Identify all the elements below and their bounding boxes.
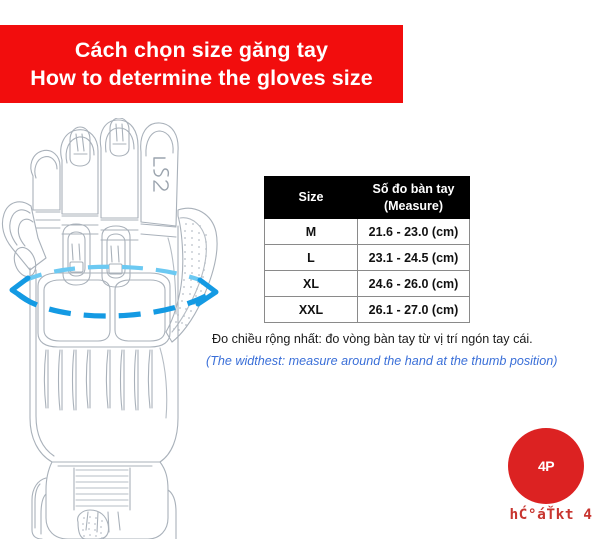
cell-measure: 23.1 - 24.5 (cm) [358, 245, 470, 271]
glove-size-table: Size Số đo bàn tay (Measure) M 21.6 - 23… [264, 176, 470, 323]
cell-measure: 26.1 - 27.0 (cm) [358, 297, 470, 323]
watermark-circle: 4P [508, 428, 584, 504]
table-row: XXL 26.1 - 27.0 (cm) [265, 297, 470, 323]
table-row: XL 24.6 - 26.0 (cm) [265, 271, 470, 297]
caption-vietnamese: Đo chiều rộng nhất: đo vòng bàn tay từ v… [212, 330, 592, 350]
cell-size: M [265, 219, 358, 245]
column-header-size: Size [265, 177, 358, 219]
table-row: L 23.1 - 24.5 (cm) [265, 245, 470, 271]
glove-illustration [0, 118, 250, 539]
measurement-caption: Đo chiều rộng nhất: đo vòng bàn tay từ v… [212, 330, 592, 371]
watermark-circle-label: 4P [538, 458, 554, 474]
cell-measure: 21.6 - 23.0 (cm) [358, 219, 470, 245]
cell-size: XXL [265, 297, 358, 323]
cell-size: XL [265, 271, 358, 297]
column-header-measure-line2: (Measure) [358, 198, 469, 215]
title-banner: Cách chọn size găng tay How to determine… [0, 25, 403, 103]
cell-size: L [265, 245, 358, 271]
table-row: M 21.6 - 23.0 (cm) [265, 219, 470, 245]
watermark: 4P hĆ°áŤkt 4 [505, 428, 597, 528]
watermark-caption: hĆ°áŤkt 4 [505, 507, 597, 523]
cell-measure: 24.6 - 26.0 (cm) [358, 271, 470, 297]
banner-title-vietnamese: Cách chọn size găng tay [75, 36, 328, 64]
column-header-measure-line1: Số đo bàn tay [358, 181, 469, 198]
banner-title-english: How to determine the gloves size [30, 64, 373, 92]
column-header-measure: Số đo bàn tay (Measure) [358, 177, 470, 219]
caption-english: (The widthest: measure around the hand a… [206, 352, 592, 372]
table-header-row: Size Số đo bàn tay (Measure) [265, 177, 470, 219]
